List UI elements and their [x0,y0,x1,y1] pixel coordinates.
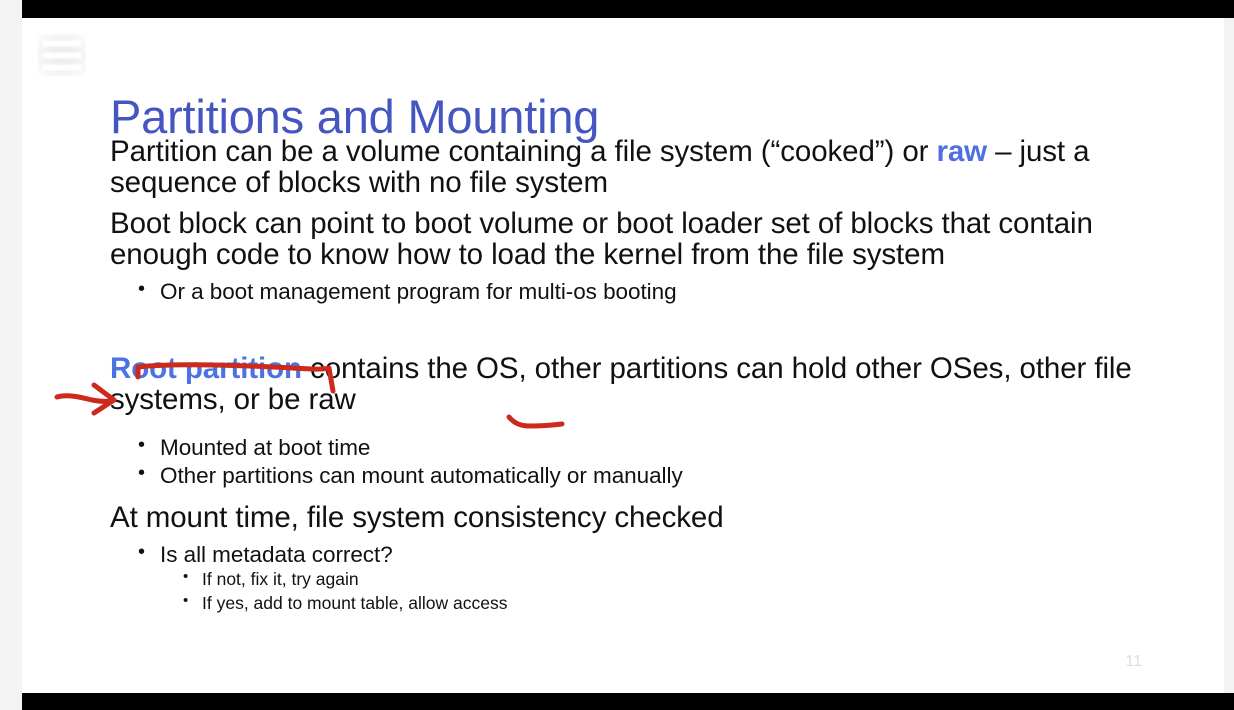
bullet-root-partition: Root partition contains the OS, other pa… [110,353,1175,416]
letterbox-bottom [22,693,1234,710]
page-gutter-left [0,0,22,710]
bullet-mounted-at-boot-time: Mounted at boot time [110,435,1175,461]
vertical-spacer-small [110,424,1175,435]
bullet-boot-block: Boot block can point to boot volume or b… [110,208,1175,271]
text-run: Is all metadata correct? [160,542,393,567]
bullet-metadata-correct: Is all metadata correct? [110,542,1175,568]
bullet-other-partitions-mount: Other partitions can mount automatically… [110,463,1175,489]
slide-body: Partition can be a volume containing a f… [110,136,1175,616]
hamburger-bar-1 [43,41,81,46]
text-run: At mount time, file system consistency c… [110,501,724,534]
text-run: Boot block can point to boot volume or b… [110,207,1093,271]
bullet-partition-definition: Partition can be a volume containing a f… [110,136,1175,199]
hamburger-bar-3 [43,65,81,70]
page-gutter-right [1224,0,1234,710]
text-run: Other partitions can mount automatically… [160,463,683,488]
highlight-root-partition: Root partition [110,352,302,385]
text-run: Mounted at boot time [160,435,370,460]
hamburger-menu-icon[interactable] [38,34,86,76]
slide-viewer: Partitions and Mounting Partition can be… [0,0,1234,710]
text-run: If not, fix it, try again [202,569,359,589]
bullet-if-yes-add-mount-table: If yes, add to mount table, allow access [110,593,1175,613]
page-number: 11 [1125,653,1142,671]
arrow-to-root-partition-icon [57,396,110,402]
hamburger-bar-2 [43,53,81,58]
text-run: Or a boot management program for multi-o… [160,279,677,304]
bullet-boot-management-program: Or a boot management program for multi-o… [110,279,1175,305]
highlight-raw: raw [936,135,987,168]
text-run: Partition can be a volume containing a f… [110,135,936,168]
letterbox-top [22,0,1234,18]
text-run: If yes, add to mount table, allow access [202,593,507,613]
slide-canvas: Partitions and Mounting Partition can be… [22,18,1224,693]
bullet-if-not-fix-it: If not, fix it, try again [110,569,1175,589]
bullet-mount-time-consistency: At mount time, file system consistency c… [110,502,1175,533]
vertical-spacer [110,307,1175,353]
